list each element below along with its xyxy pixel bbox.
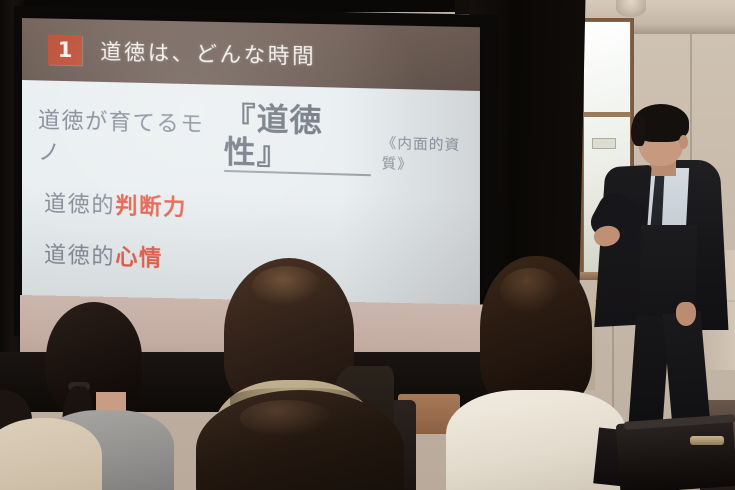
- briefcase-handle: [690, 436, 724, 445]
- presenter-ear: [679, 135, 688, 149]
- main-line-emphasis: 『道徳性』: [224, 103, 371, 176]
- bullet-1-keyword: 判断力: [115, 194, 187, 221]
- slide-header-title: 道徳は、どんな時間: [100, 36, 316, 71]
- slide-main-line: 道徳が育てるモノ 『道徳性』 《内面的資質》: [22, 98, 480, 180]
- ceiling-speaker-icon: [616, 0, 646, 17]
- main-line-note: 《内面的資質》: [382, 133, 480, 177]
- slide-bullet-1: 道徳的判断力: [22, 185, 480, 232]
- slide-number-badge: 1: [48, 35, 82, 66]
- bullet-1-prefix: 道徳的: [44, 192, 115, 219]
- presenter-hand-lowered: [676, 302, 696, 326]
- bullet-2-prefix: 道徳的: [44, 243, 115, 271]
- audience-member-left-cream-shoulder: [0, 418, 102, 490]
- window-latch: [592, 138, 616, 149]
- window-mullion: [584, 112, 630, 117]
- slide-header-band: 1 道徳は、どんな時間: [22, 18, 480, 91]
- audience-member-ponytail-hair: [46, 302, 142, 414]
- bullet-2-keyword: 心情: [115, 245, 163, 272]
- hair-highlight: [500, 268, 560, 312]
- main-line-lead: 道徳が育てるモノ: [38, 102, 207, 171]
- hair-highlight: [240, 400, 332, 436]
- presenter-hair-side: [631, 116, 645, 146]
- presentation-photo-scene: 1 道徳は、どんな時間 道徳が育てるモノ 『道徳性』 《内面的資質》 道徳的判断…: [0, 0, 735, 490]
- hair-highlight: [252, 266, 322, 306]
